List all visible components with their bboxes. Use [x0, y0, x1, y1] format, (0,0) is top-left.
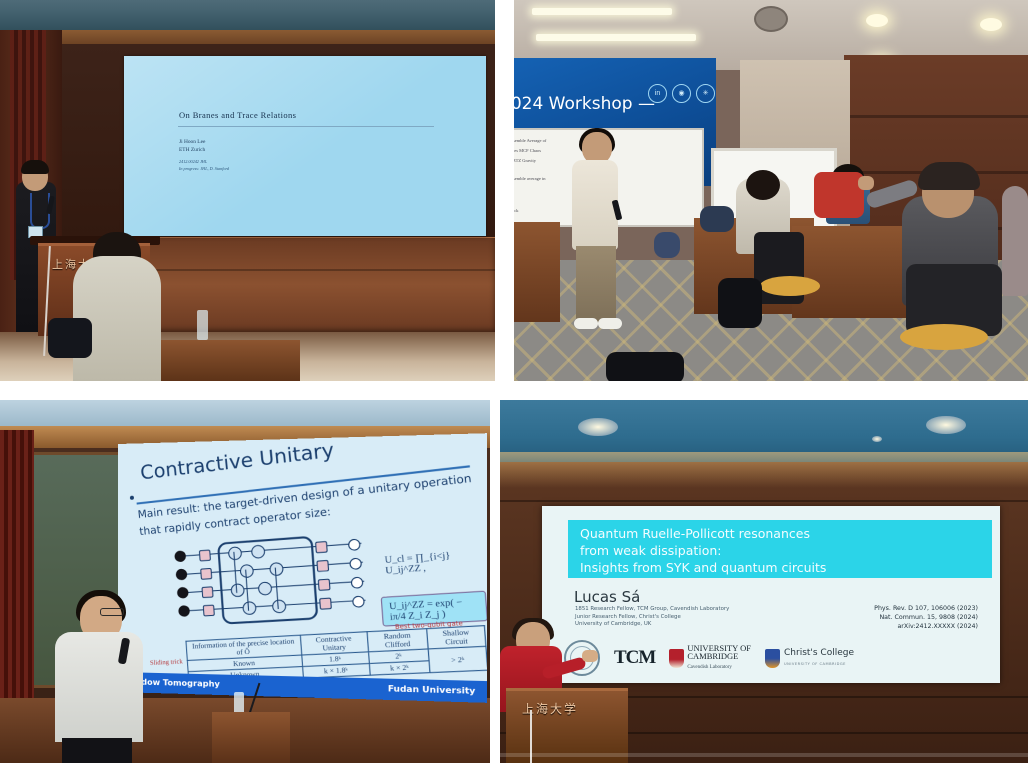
christs-logo-text: Christ's College UNIVERSITY OF CAMBRIDGE [784, 648, 854, 669]
projection-screen[interactable]: On Branes and Trace Relations Ji Hoon Le… [124, 56, 486, 236]
speaker-body [572, 160, 618, 250]
affiliation-line-1: 1851 Research Fellow, TCM Group, Cavendi… [575, 606, 729, 614]
photo-top-right[interactable]: 2024 Workshop — in ◉ ✳ Ensemble Average … [514, 0, 1028, 381]
audience-edge [1002, 186, 1028, 296]
affiliation-line-2: Junior Research Fellow, Christ's College [575, 614, 729, 622]
speaker-hair [21, 160, 49, 174]
photo-bottom-right[interactable]: Quantum Ruelle-Pollicott resonances from… [500, 400, 1028, 763]
slide-author-block: Ji Hoon Lee ETH Zurich [179, 138, 205, 154]
slide-title-line-2: from weak dissipation: [580, 543, 722, 558]
christs-college-logo: Christ's College UNIVERSITY OF CAMBRIDGE [765, 648, 854, 669]
raised-hand [858, 176, 874, 190]
whiteboard-note: Ensemble Average of [514, 138, 546, 143]
slide-title-band: Quantum Ruelle-Pollicott resonances from… [568, 520, 992, 578]
photo-bottom-left[interactable]: Contractive Unitary Main result: the tar… [0, 400, 490, 763]
small-bag [654, 232, 680, 258]
tcm-logo: TCM [614, 647, 655, 669]
reference-line-3: arXiv:2412.XXXXX (2024) [874, 622, 978, 631]
screen-title: 2024 Workshop — [514, 94, 655, 114]
slide-bullet: Main result: the target-driven design of… [137, 469, 486, 541]
whiteboard-note: in BTZ Gravity [514, 158, 536, 163]
photo-collage: On Branes and Trace Relations Ji Hoon Le… [0, 0, 1028, 763]
ceiling-spotlight-icon [872, 436, 882, 442]
reference-line-2: Nat. Commun. 15, 9808 (2024) [874, 613, 978, 622]
cambridge-logo-text: UNIVERSITY OF CAMBRIDGE Cavendish Labora… [687, 644, 751, 673]
floor-edge [500, 753, 1028, 757]
speaker-legs [576, 246, 616, 324]
curtain [0, 430, 34, 700]
slide-title: On Branes and Trace Relations [179, 110, 296, 120]
projection-screen[interactable]: Contractive Unitary Main result: the tar… [118, 433, 487, 703]
slide-speaker-name: Lucas Sá [574, 588, 640, 606]
slide-title: Contractive Unitary [139, 439, 335, 484]
sliding-trick-label: Sliding trick [150, 658, 183, 668]
projection-screen[interactable]: Quantum Ruelle-Pollicott resonances from… [542, 506, 1000, 683]
glasses-icon [100, 608, 124, 616]
bullet-marker [130, 496, 134, 500]
christs-sub: UNIVERSITY OF CAMBRIDGE [784, 662, 846, 666]
cell-shallow-circuit: > 2ᵏ [428, 646, 487, 672]
jacket [700, 206, 734, 232]
slide-author: Ji Hoon Lee [179, 138, 205, 146]
col-header-3: Shallow Circuit [427, 626, 486, 649]
slide-references: Phys. Rev. D 107, 106006 (2023) Nat. Com… [874, 604, 978, 631]
circle-logo-3-icon: ✳ [696, 84, 715, 103]
water-bottle [197, 310, 208, 340]
wood-trim [0, 30, 495, 44]
cambridge-crest-icon [669, 649, 684, 668]
circle-logo-1-icon: in [648, 84, 667, 103]
side-desk [514, 222, 560, 322]
slide-logo-row: TCM UNIVERSITY OF CAMBRIDGE Cavendish La… [564, 642, 854, 674]
ceiling [0, 400, 490, 426]
speaker-hand-with-pointer [582, 650, 598, 662]
ceiling [0, 0, 495, 30]
backpack [718, 278, 762, 328]
col-header-2: Random Clifford [367, 629, 428, 652]
downlight-icon [866, 14, 888, 27]
slide-title-line-1: Quantum Ruelle-Pollicott resonances [580, 526, 810, 541]
cambridge-logo: UNIVERSITY OF CAMBRIDGE Cavendish Labora… [669, 644, 751, 673]
slide-affiliation: ETH Zurich [179, 146, 205, 154]
cell-r1c2: k × 2ᵏ [369, 661, 430, 675]
whiteboard-note: Black [514, 208, 519, 213]
front-desk [160, 340, 300, 381]
ceiling-spotlight-icon [578, 418, 618, 436]
quantum-circuit-diagram [174, 536, 370, 619]
ceiling-vent-icon [754, 6, 788, 32]
reference-line-1: Phys. Rev. D 107, 106006 (2023) [874, 604, 978, 613]
slide-divider [178, 126, 434, 127]
slide-reference-2: In progress: JHL, D. Stanford [179, 166, 229, 173]
ceiling-spotlight-icon [926, 416, 966, 434]
ceiling-light-tube [532, 8, 672, 15]
equation-1: U_cl = ∏_{i<j} U_ij^ZZ , [384, 547, 487, 575]
shoe [598, 318, 622, 329]
footer-right-text: Fudan University [388, 684, 476, 696]
wall-uplight-glow [500, 452, 1028, 488]
circle-logo-2-icon: ◉ [672, 84, 691, 103]
shoe [574, 318, 598, 329]
cambridge-sub: Cavendish Laboratory [687, 665, 732, 670]
slide-references: 2412.00242 JHL In progress: JHL, D. Stan… [179, 159, 229, 172]
speaker-legs [62, 738, 132, 763]
ceiling-light-tube [536, 34, 696, 41]
foreground-attendee-hair [918, 162, 980, 190]
chair-seat [900, 324, 988, 350]
podium [212, 712, 290, 763]
slide-title-line-3: Insights from SYK and quantum circuits [580, 560, 826, 575]
chair-seat [760, 276, 820, 296]
speaker-body [55, 632, 143, 742]
christs-crest-icon [765, 649, 780, 668]
photo-top-left[interactable]: On Branes and Trace Relations Ji Hoon Le… [0, 0, 495, 381]
backpack [606, 352, 684, 381]
audience-member-red [814, 172, 864, 218]
cambridge-line-2: CAMBRIDGE [687, 652, 751, 661]
christs-line-1: Christ's College [784, 648, 854, 658]
downlight-icon [980, 18, 1002, 31]
slide-affiliations: 1851 Research Fellow, TCM Group, Cavendi… [575, 606, 729, 629]
audience-head [746, 170, 780, 200]
whiteboard-note: Ensemble average in [514, 176, 545, 181]
bag [48, 318, 92, 358]
wall-seam [500, 500, 1028, 502]
whiteboard-note: Lines MCF Chaos [514, 148, 541, 153]
affiliation-line-3: University of Cambridge, UK [575, 621, 729, 629]
